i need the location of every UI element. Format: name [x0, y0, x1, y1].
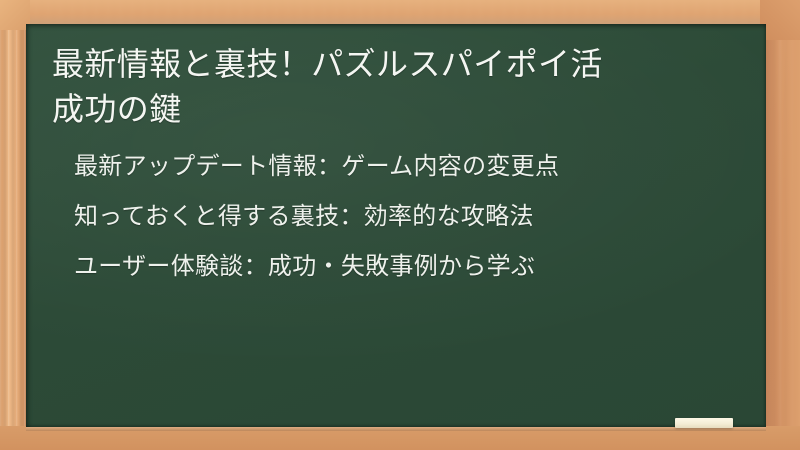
frame-edge-left [0, 0, 26, 450]
list-item: ユーザー体験談：成功・失敗事例から学ぶ [74, 255, 740, 279]
list-item: 最新アップデート情報：ゲーム内容の変更点 [74, 155, 740, 179]
list-item: 知っておくと得する裏技：効率的な攻略法 [74, 205, 740, 229]
frame-corner-top-right [760, 0, 800, 40]
topic-list: 最新アップデート情報：ゲーム内容の変更点 知っておくと得する裏技：効率的な攻略法… [52, 155, 740, 279]
chalkboard-surface: 最新情報と裏技！パズルスパイポイ活 成功の鍵 最新アップデート情報：ゲーム内容の… [26, 24, 766, 427]
chalk-ledge [26, 427, 766, 431]
page-title: 最新情報と裏技！パズルスパイポイ活 成功の鍵 [52, 42, 740, 133]
frame-edge-right [766, 0, 800, 450]
frame-edge-top [0, 0, 800, 26]
chalk-stick-icon [675, 418, 733, 428]
wooden-frame: 最新情報と裏技！パズルスパイポイ活 成功の鍵 最新アップデート情報：ゲーム内容の… [0, 0, 800, 450]
